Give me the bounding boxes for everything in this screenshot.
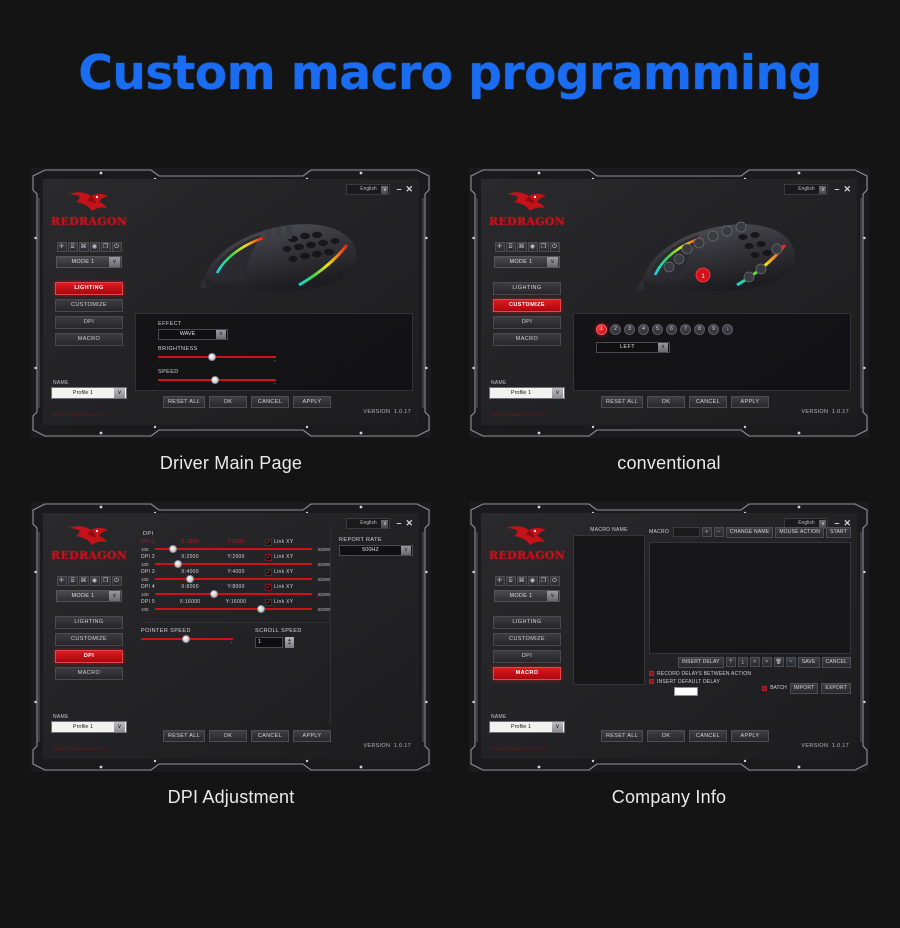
- chevron-down-icon[interactable]: ∨: [552, 722, 563, 732]
- dpi-slider-rail[interactable]: [155, 563, 312, 565]
- stepper-arrows-icon[interactable]: ▴▾: [285, 637, 294, 648]
- dpi-slider-knob[interactable]: [174, 560, 182, 568]
- nav-list-3: LIGHTING CUSTOMIZE DPI MACRO: [51, 616, 127, 680]
- checkbox-icon[interactable]: [649, 679, 654, 684]
- quick-toolbar-4: ✛ ⌸ ⌘ ◉ ❐ ⏻: [489, 576, 565, 586]
- apply-button[interactable]: APPLY: [293, 730, 331, 742]
- eye-icon[interactable]: ◉: [528, 242, 538, 252]
- batch-checkbox-icon[interactable]: [762, 686, 767, 691]
- app-content-3: English ∨ – ✕ REDR: [43, 513, 419, 759]
- action-row-1: RESET ALL OK CANCEL APPLY: [163, 396, 331, 408]
- button-index-4[interactable]: 4: [638, 324, 649, 335]
- dpi-slider-rail[interactable]: [155, 578, 312, 580]
- nav-item-macro[interactable]: MACRO: [55, 667, 123, 680]
- action-row-3: RESET ALL OK CANCEL APPLY: [163, 730, 331, 742]
- brightness-label: BRIGHTNESS: [158, 346, 412, 352]
- mode-value: MODE 1: [57, 259, 109, 265]
- speed-field: SPEED - +: [136, 363, 412, 386]
- mode-value: MODE 1: [495, 259, 547, 265]
- save-button[interactable]: SAVE: [798, 657, 820, 668]
- cancel-button[interactable]: CANCEL: [251, 730, 289, 742]
- mode-select-3[interactable]: MODE 1 ∨: [56, 590, 122, 602]
- nav-item-customize[interactable]: CUSTOMIZE: [493, 299, 561, 312]
- link-icon[interactable]: ⌘: [79, 576, 89, 586]
- dpi-row-y: Y:1000: [213, 539, 259, 545]
- apply-button[interactable]: APPLY: [293, 396, 331, 408]
- language-value: English: [798, 186, 814, 192]
- dpi-row[interactable]: DPI 2 X:2000 Y:2000 ✓ Link XY 100: [141, 554, 330, 567]
- content-dpi: DPI DPI 1 X:1000 Y:1000 ✓ Link XY: [135, 527, 413, 725]
- version-label: VERSION 1.0.17: [801, 743, 849, 749]
- chevron-down-icon[interactable]: ∨: [114, 388, 125, 398]
- cancel-button[interactable]: CANCEL: [689, 396, 727, 408]
- dpi-row-head: DPI 4 X:8000 Y:8000 ✓ Link XY: [141, 584, 330, 591]
- profile-label: NAME: [489, 380, 565, 386]
- brand-logo: REDRAGON: [51, 521, 127, 562]
- reset-all-button[interactable]: RESET ALL: [163, 730, 205, 742]
- button-index-scroll[interactable]: ↓: [722, 324, 733, 335]
- dpi-row-x: X:2000: [167, 554, 213, 560]
- app-content-4: English ∨ – ✕ REDR: [481, 513, 857, 759]
- mouse-action-button[interactable]: MOUSE ACTION: [775, 527, 824, 538]
- reset-all-button[interactable]: RESET ALL: [163, 396, 205, 408]
- ok-button[interactable]: OK: [647, 730, 685, 742]
- checkmark-icon: ✓: [265, 584, 272, 591]
- brand-name: REDRAGON: [51, 549, 127, 562]
- scroll-speed-label: SCROLL SPEED: [255, 628, 302, 634]
- default-delay-input[interactable]: [674, 687, 698, 696]
- nav-item-lighting[interactable]: LIGHTING: [55, 282, 123, 295]
- link-icon[interactable]: ⌘: [517, 576, 527, 586]
- lock-icon[interactable]: ⌸: [506, 242, 516, 252]
- button-index-2[interactable]: 2: [610, 324, 621, 335]
- panel-caption: conventional: [617, 453, 720, 474]
- dpi-min-value: 100: [141, 562, 155, 567]
- link-xy-label: Link XY: [274, 569, 293, 575]
- panel-driver-main-page: English ∨ – ✕ REDR: [30, 168, 432, 474]
- dpi-row-slider[interactable]: 100 32000: [141, 562, 330, 567]
- report-rate-select[interactable]: 500HZ ∨: [339, 545, 413, 556]
- nav-list-4: LIGHTING CUSTOMIZE DPI MACRO: [489, 616, 565, 680]
- eye-icon[interactable]: ◉: [528, 576, 538, 586]
- slider-min-mark: -: [158, 381, 159, 386]
- report-rate-value: 500HZ: [340, 547, 401, 553]
- content-macro: MACRO NAME MACRO + − CHANGE NAME MOUSE A…: [573, 527, 851, 725]
- mouse-image-annotated: 1: [621, 201, 821, 311]
- effect-value: WAVE: [159, 331, 216, 337]
- content-customize: 1 1 2 3 4 5 6 7 8: [573, 197, 851, 391]
- profile-label: NAME: [51, 714, 127, 720]
- slider-max-mark: +: [231, 640, 233, 645]
- brand-logo: REDRAGON: [489, 187, 565, 228]
- dpi-row[interactable]: DPI 5 X:16000 Y:16000 ✓ Link XY 100: [141, 599, 330, 612]
- minimize-icon[interactable]: –: [396, 185, 401, 194]
- slider-max-mark: +: [274, 358, 276, 363]
- nav-item-customize[interactable]: CUSTOMIZE: [493, 633, 561, 646]
- lock-icon[interactable]: ⌸: [68, 242, 78, 252]
- copy-icon[interactable]: ❐: [101, 576, 111, 586]
- button-index-3[interactable]: 3: [624, 324, 635, 335]
- edit-icon[interactable]: ✎: [786, 657, 796, 667]
- chevron-down-icon[interactable]: ∨: [216, 330, 226, 339]
- dpi-row-slider[interactable]: 100 32000: [141, 592, 330, 597]
- language-value: English: [360, 520, 376, 526]
- app-window-4: English ∨ – ✕ REDR: [469, 502, 869, 772]
- dpi-row-name: DPI 4: [141, 584, 167, 590]
- dragon-icon: [63, 190, 115, 214]
- dpi-row-y: Y:16000: [213, 599, 259, 605]
- action-row-2: RESET ALL OK CANCEL APPLY: [601, 396, 769, 408]
- nav-item-dpi[interactable]: DPI: [55, 650, 123, 663]
- macro-label: MACRO: [649, 529, 669, 535]
- chevron-down-icon[interactable]: ∨: [401, 546, 411, 555]
- panel-conventional: English ∨ – ✕ REDR: [468, 168, 870, 474]
- mouse-preview-1: [135, 197, 413, 307]
- dpi-row-name: DPI 1: [141, 539, 167, 545]
- copy-icon[interactable]: ❐: [539, 576, 549, 586]
- app-window-3: English ∨ – ✕ REDR: [31, 502, 431, 772]
- move-down-icon[interactable]: ˅: [762, 657, 772, 667]
- titlebar-controls-2: English ∨ – ✕: [784, 184, 851, 195]
- nav-list-2: LIGHTING CUSTOMIZE DPI MACRO: [489, 282, 565, 346]
- effect-label: EFFECT: [158, 321, 412, 327]
- dpi-row-name: DPI 2: [141, 554, 167, 560]
- macro-name-input[interactable]: [673, 527, 700, 537]
- app-window-1: English ∨ – ✕ REDR: [31, 168, 431, 438]
- mode-value: MODE 1: [495, 593, 547, 599]
- nav-item-macro[interactable]: MACRO: [55, 333, 123, 346]
- export-button[interactable]: EXPORT: [821, 683, 851, 694]
- dpi-row-x: X:8000: [167, 584, 213, 590]
- link-xy-checkbox[interactable]: ✓ Link XY: [265, 554, 293, 561]
- window-buttons: – ✕: [834, 185, 851, 194]
- profile-select[interactable]: Profile 1 ∨: [51, 387, 127, 399]
- language-select[interactable]: English ∨: [784, 184, 828, 195]
- dragon-icon: [501, 524, 553, 548]
- sidebar-4: REDRAGON ✛ ⌸ ⌘ ◉ ❐ ⏻ MODE 1 ∨: [489, 521, 565, 680]
- speed-slider-marks: - +: [158, 381, 276, 386]
- remove-icon[interactable]: −: [714, 527, 724, 537]
- reset-all-button[interactable]: RESET ALL: [601, 730, 643, 742]
- nav-item-dpi[interactable]: DPI: [55, 316, 123, 329]
- link-xy-checkbox[interactable]: ✓ Link XY: [265, 569, 293, 576]
- ok-button[interactable]: OK: [647, 396, 685, 408]
- change-name-button[interactable]: CHANGE NAME: [726, 527, 773, 538]
- ok-button[interactable]: OK: [209, 730, 247, 742]
- mode-select-1[interactable]: MODE 1 ∨: [56, 256, 122, 268]
- macro-name-list[interactable]: [573, 535, 645, 685]
- brand-name: REDRAGON: [51, 215, 127, 228]
- crosshair-icon[interactable]: ✛: [57, 576, 67, 586]
- checkmark-icon: ✓: [265, 554, 272, 561]
- macro-head: MACRO NAME MACRO + − CHANGE NAME MOUSE A…: [573, 527, 851, 696]
- dpi-row-slider[interactable]: 100 32000: [141, 577, 330, 582]
- dpi-max-value: 32000: [312, 562, 330, 567]
- dpi-slider-knob[interactable]: [210, 590, 218, 598]
- macro-action-list[interactable]: [649, 542, 851, 654]
- batch-label: BATCH: [770, 685, 787, 691]
- button-index-7[interactable]: 7: [680, 324, 691, 335]
- pointer-speed-field: POINTER SPEED - +: [141, 628, 233, 648]
- cancel-button[interactable]: CANCEL: [689, 730, 727, 742]
- mode-select-2[interactable]: MODE 1 ∨: [494, 256, 560, 268]
- macro-toolbar: MACRO + − CHANGE NAME MOUSE ACTION START: [649, 527, 851, 538]
- chevron-down-icon[interactable]: ∨: [819, 186, 826, 194]
- apply-button[interactable]: APPLY: [731, 730, 769, 742]
- effect-field: EFFECT WAVE ∨: [136, 314, 412, 340]
- chevron-down-icon[interactable]: ∨: [547, 257, 558, 267]
- dpi-section-title: DPI: [143, 531, 330, 537]
- sidebar-3: REDRAGON ✛ ⌸ ⌘ ◉ ❐ ⏻ MODE 1 ∨: [51, 521, 127, 680]
- page-title: Custom macro programming: [0, 0, 900, 100]
- dpi-row[interactable]: DPI 4 X:8000 Y:8000 ✓ Link XY 100: [141, 584, 330, 597]
- slider-max-mark: +: [274, 381, 276, 386]
- dpi-row-name: DPI 3: [141, 569, 167, 575]
- slider-min-mark: -: [158, 358, 159, 363]
- add-icon[interactable]: +: [702, 527, 712, 537]
- lock-icon[interactable]: ⌸: [68, 576, 78, 586]
- profile-select[interactable]: Profile 1 ∨: [489, 721, 565, 733]
- move-up-top-icon[interactable]: ⤒: [726, 657, 736, 667]
- panel-caption: DPI Adjustment: [168, 787, 295, 808]
- reset-all-button[interactable]: RESET ALL: [601, 396, 643, 408]
- dpi-max-value: 32000: [312, 577, 330, 582]
- site-url: www.redragonzone.com: [53, 412, 107, 417]
- power-icon[interactable]: ⏻: [112, 242, 122, 252]
- delete-icon[interactable]: 🗑: [774, 657, 784, 667]
- button-index-9[interactable]: 9: [708, 324, 719, 335]
- mode-select-4[interactable]: MODE 1 ∨: [494, 590, 560, 602]
- button-index-8[interactable]: 8: [694, 324, 705, 335]
- ok-button[interactable]: OK: [209, 396, 247, 408]
- profile-block-2: NAME Profile 1 ∨: [489, 380, 565, 399]
- macro-controls: INSERT DELAY ⤒ ⤓ ˄ ˅ 🗑 ✎ SAVE CANCEL: [649, 657, 851, 668]
- nav-item-customize[interactable]: CUSTOMIZE: [55, 299, 123, 312]
- chevron-down-icon[interactable]: ∨: [109, 591, 120, 601]
- scroll-speed-value[interactable]: 1: [255, 637, 283, 648]
- dpi-max-value: 32000: [312, 547, 330, 552]
- panel-caption: Company Info: [612, 787, 726, 808]
- dpi-slider-knob[interactable]: [186, 575, 194, 583]
- profile-select[interactable]: Profile 1 ∨: [489, 387, 565, 399]
- chevron-down-icon[interactable]: ∨: [381, 186, 388, 194]
- dpi-row[interactable]: DPI 3 X:4000 Y:4000 ✓ Link XY 100: [141, 569, 330, 582]
- site-url: www.redragonzone.com: [491, 746, 545, 751]
- brand-logo: REDRAGON: [489, 521, 565, 562]
- apply-button[interactable]: APPLY: [731, 396, 769, 408]
- dpi-row-head: DPI 5 X:16000 Y:16000 ✓ Link XY: [141, 599, 330, 606]
- lock-icon[interactable]: ⌸: [506, 576, 516, 586]
- profile-block-1: NAME Profile 1 ∨: [51, 380, 127, 399]
- dpi-row-head: DPI 2 X:2000 Y:2000 ✓ Link XY: [141, 554, 330, 561]
- pointer-speed-marks: - +: [141, 640, 233, 645]
- nav-item-lighting[interactable]: LIGHTING: [493, 282, 561, 295]
- language-select[interactable]: English ∨: [346, 184, 390, 195]
- macro-options: RECORD DELAYS BETWEEN ACTION INSERT DEFA…: [649, 671, 851, 696]
- checkbox-icon[interactable]: [649, 671, 654, 676]
- dpi-slider-knob[interactable]: [257, 605, 265, 613]
- button-index-1[interactable]: 1: [596, 324, 607, 335]
- speed-label: SPEED: [158, 369, 412, 375]
- sidebar-2: REDRAGON ✛ ⌸ ⌘ ◉ ❐ ⏻ MODE 1 ∨: [489, 187, 565, 346]
- macro-editor: MACRO + − CHANGE NAME MOUSE ACTION START…: [649, 527, 851, 696]
- mouse-preview-2: 1: [573, 197, 851, 307]
- profile-value: Profile 1: [52, 390, 114, 396]
- power-icon[interactable]: ⏻: [550, 242, 560, 252]
- profile-label: NAME: [51, 380, 127, 386]
- link-xy-label: Link XY: [274, 584, 293, 590]
- chevron-down-icon[interactable]: ∨: [658, 343, 668, 352]
- insert-delay-button[interactable]: INSERT DELAY: [678, 657, 724, 668]
- dpi-slider-rail[interactable]: [155, 593, 312, 595]
- insert-default-delay-label: INSERT DEFAULT DELAY: [657, 679, 720, 685]
- close-icon[interactable]: ✕: [843, 185, 851, 194]
- language-value: English: [798, 520, 814, 526]
- dpi-slider-rail[interactable]: [155, 608, 312, 610]
- dragon-icon: [501, 190, 553, 214]
- version-label: VERSION 1.0.17: [801, 409, 849, 415]
- dpi-min-value: 100: [141, 607, 155, 612]
- brand-name: REDRAGON: [489, 215, 565, 228]
- link-xy-label: Link XY: [274, 539, 293, 545]
- window-buttons: – ✕: [396, 185, 413, 194]
- mouse-image: [187, 203, 377, 308]
- profile-block-4: NAME Profile 1 ∨: [489, 714, 565, 733]
- link-xy-checkbox[interactable]: ✓ Link XY: [265, 539, 293, 546]
- dpi-max-value: 32000: [312, 592, 330, 597]
- dpi-row-head: DPI 3 X:4000 Y:4000 ✓ Link XY: [141, 569, 330, 576]
- app-content-1: English ∨ – ✕ REDR: [43, 179, 419, 425]
- language-value: English: [360, 186, 376, 192]
- close-icon[interactable]: ✕: [405, 185, 413, 194]
- dpi-row-x: X:16000: [167, 599, 213, 605]
- checkmark-icon: ✓: [265, 599, 272, 606]
- dragon-icon: [63, 524, 115, 548]
- dpi-row-y: Y:2000: [213, 554, 259, 560]
- eye-icon[interactable]: ◉: [90, 242, 100, 252]
- cancel-macro-button[interactable]: CANCEL: [822, 657, 851, 668]
- power-icon[interactable]: ⏻: [550, 576, 560, 586]
- panel-caption: Driver Main Page: [160, 453, 302, 474]
- profile-select[interactable]: Profile 1 ∨: [51, 721, 127, 733]
- eye-icon[interactable]: ◉: [90, 576, 100, 586]
- start-button[interactable]: START: [826, 527, 851, 538]
- dpi-row-y: Y:8000: [213, 584, 259, 590]
- import-button[interactable]: IMPORT: [790, 683, 819, 694]
- mode-value: MODE 1: [57, 593, 109, 599]
- button-index-row: 1 2 3 4 5 6 7 8 9 ↓: [574, 314, 850, 335]
- chevron-down-icon[interactable]: ∨: [114, 722, 125, 732]
- panel-company-info: English ∨ – ✕ REDR: [468, 502, 870, 808]
- scroll-speed-stepper[interactable]: 1 ▴▾: [255, 637, 302, 648]
- version-label: VERSION 1.0.17: [363, 743, 411, 749]
- customize-card: 1 2 3 4 5 6 7 8 9 ↓ LEFT: [573, 313, 851, 391]
- sidebar-1: REDRAGON ✛ ⌸ ⌘ ◉ ❐ ⏻ MODE 1 ∨: [51, 187, 127, 346]
- profile-block-3: NAME Profile 1 ∨: [51, 714, 127, 733]
- dpi-row-slider[interactable]: 100 32000: [141, 547, 330, 552]
- nav-item-macro[interactable]: MACRO: [493, 667, 561, 680]
- nav-item-macro[interactable]: MACRO: [493, 333, 561, 346]
- power-icon[interactable]: ⏻: [112, 576, 122, 586]
- macro-name-col-title: MACRO NAME: [573, 527, 645, 533]
- copy-icon[interactable]: ❐: [539, 242, 549, 252]
- chevron-down-icon[interactable]: ∨: [109, 257, 120, 267]
- crosshair-icon[interactable]: ✛: [495, 242, 505, 252]
- panel-dpi-adjustment: English ∨ – ✕ REDR: [30, 502, 432, 808]
- effect-select[interactable]: WAVE ∨: [158, 329, 228, 340]
- nav-item-dpi[interactable]: DPI: [493, 650, 561, 663]
- dpi-slider-rail[interactable]: [155, 548, 312, 550]
- record-delays-label: RECORD DELAYS BETWEEN ACTION: [657, 671, 751, 677]
- dpi-row-slider[interactable]: 100 32000: [141, 607, 330, 612]
- brightness-field: BRIGHTNESS - +: [136, 340, 412, 363]
- button-index-5[interactable]: 5: [652, 324, 663, 335]
- dpi-slider-knob[interactable]: [169, 545, 177, 553]
- version-label: VERSION 1.0.17: [363, 409, 411, 415]
- minimize-icon[interactable]: –: [834, 185, 839, 194]
- move-down-bottom-icon[interactable]: ⤓: [738, 657, 748, 667]
- macro-name-column: MACRO NAME: [573, 527, 645, 685]
- speed-settings: POINTER SPEED - + SCROLL SPEED: [141, 622, 330, 648]
- record-delays-option[interactable]: RECORD DELAYS BETWEEN ACTION: [649, 671, 851, 677]
- link-icon[interactable]: ⌘: [79, 242, 89, 252]
- site-url: www.redragonzone.com: [53, 746, 107, 751]
- nav-item-lighting[interactable]: LIGHTING: [55, 616, 123, 629]
- link-xy-checkbox[interactable]: ✓ Link XY: [265, 599, 293, 606]
- link-xy-checkbox[interactable]: ✓ Link XY: [265, 584, 293, 591]
- cancel-button[interactable]: CANCEL: [251, 396, 289, 408]
- checkmark-icon: ✓: [265, 569, 272, 576]
- button-index-6[interactable]: 6: [666, 324, 677, 335]
- profile-label: NAME: [489, 714, 565, 720]
- scroll-speed-field: SCROLL SPEED 1 ▴▾: [255, 628, 302, 648]
- brand-logo: REDRAGON: [51, 187, 127, 228]
- button-assignment-select[interactable]: LEFT ∨: [596, 342, 670, 353]
- dpi-min-value: 100: [141, 577, 155, 582]
- crosshair-icon[interactable]: ✛: [57, 242, 67, 252]
- chevron-down-icon[interactable]: ∨: [547, 591, 558, 601]
- dpi-row[interactable]: DPI 1 X:1000 Y:1000 ✓ Link XY 100: [141, 539, 330, 552]
- content-lighting: EFFECT WAVE ∨ BRIGHTNESS: [135, 197, 413, 391]
- copy-icon[interactable]: ❐: [101, 242, 111, 252]
- brightness-slider-marks: - +: [158, 358, 276, 363]
- nav-item-dpi[interactable]: DPI: [493, 316, 561, 329]
- dpi-list: DPI DPI 1 X:1000 Y:1000 ✓ Link XY: [135, 527, 331, 725]
- lighting-settings-card: EFFECT WAVE ∨ BRIGHTNESS: [135, 313, 413, 391]
- quick-toolbar-1: ✛ ⌸ ⌘ ◉ ❐ ⏻: [51, 242, 127, 252]
- link-xy-label: Link XY: [274, 554, 293, 560]
- brand-name: REDRAGON: [489, 549, 565, 562]
- chevron-down-icon[interactable]: ∨: [552, 388, 563, 398]
- slider-min-mark: -: [141, 640, 142, 645]
- dpi-min-value: 100: [141, 592, 155, 597]
- quick-toolbar-3: ✛ ⌸ ⌘ ◉ ❐ ⏻: [51, 576, 127, 586]
- dpi-max-value: 32000: [312, 607, 330, 612]
- profile-value: Profile 1: [52, 724, 114, 730]
- crosshair-icon[interactable]: ✛: [495, 576, 505, 586]
- nav-list-1: LIGHTING CUSTOMIZE DPI MACRO: [51, 282, 127, 346]
- quick-toolbar-2: ✛ ⌸ ⌘ ◉ ❐ ⏻: [489, 242, 565, 252]
- titlebar-controls-1: English ∨ – ✕: [346, 184, 413, 195]
- site-url: www.redragonzone.com: [491, 412, 545, 417]
- nav-item-lighting[interactable]: LIGHTING: [493, 616, 561, 629]
- nav-item-customize[interactable]: CUSTOMIZE: [55, 633, 123, 646]
- move-up-icon[interactable]: ˄: [750, 657, 760, 667]
- link-icon[interactable]: ⌘: [517, 242, 527, 252]
- app-window-2: English ∨ – ✕ REDR: [469, 168, 869, 438]
- checkmark-icon: ✓: [265, 539, 272, 546]
- batch-controls: BATCH IMPORT EXPORT: [762, 683, 851, 694]
